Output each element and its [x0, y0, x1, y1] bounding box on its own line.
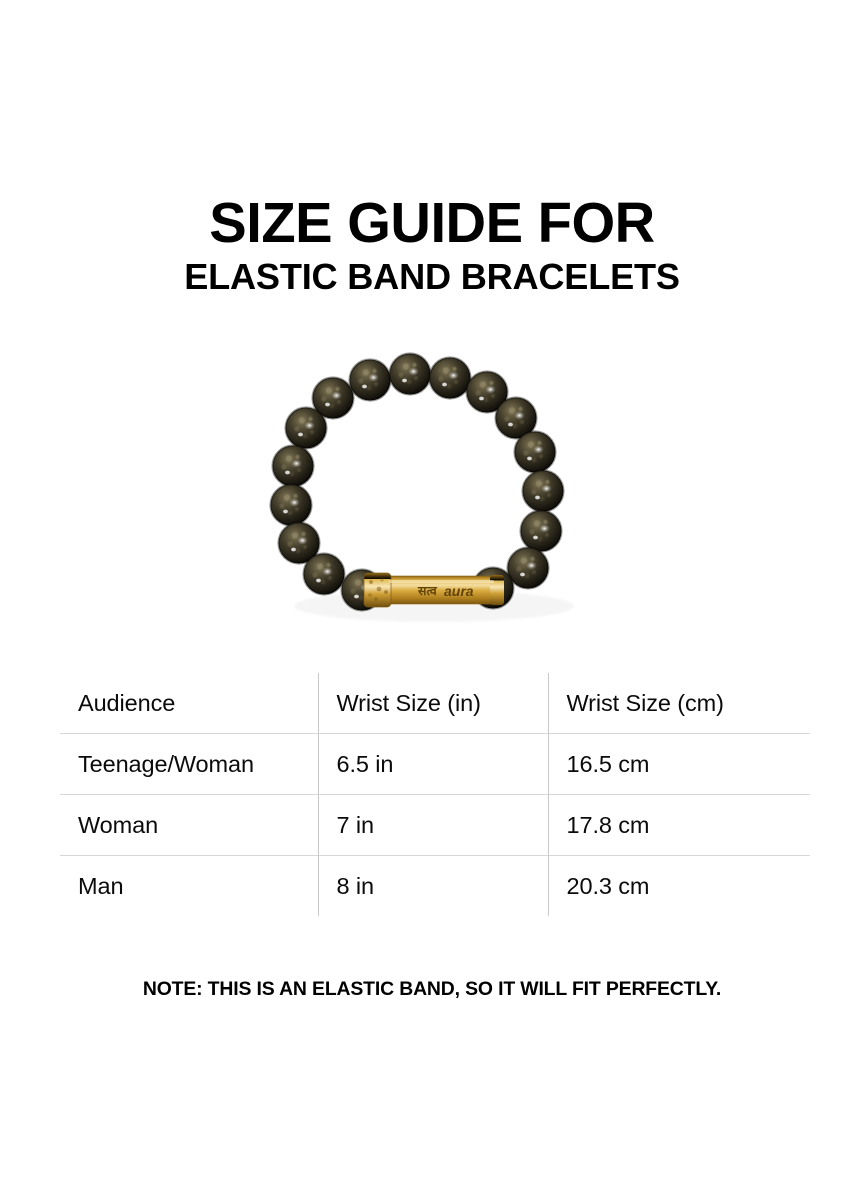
table-row: Teenage/Woman 6.5 in 16.5 cm: [60, 734, 810, 795]
page-title: SIZE GUIDE FOR: [6, 196, 857, 252]
size-table: Audience Wrist Size (in) Wrist Size (cm)…: [60, 673, 810, 916]
bracelet-illustration: सत्व aura: [258, 352, 606, 640]
cell-wrist-cm: 17.8 cm: [548, 795, 810, 856]
page-heading: SIZE GUIDE FOR ELASTIC BAND BRACELETS: [0, 196, 864, 296]
cell-wrist-cm: 16.5 cm: [548, 734, 810, 795]
cell-wrist-in: 7 in: [318, 795, 548, 856]
size-table-container: Audience Wrist Size (in) Wrist Size (cm)…: [60, 673, 810, 924]
bracelet-clasp: सत्व aura: [364, 573, 504, 607]
cell-wrist-in: 6.5 in: [318, 734, 548, 795]
column-header-audience: Audience: [60, 673, 318, 734]
clasp-brand-devanagari: सत्व: [417, 584, 438, 598]
table-row: Woman 7 in 17.8 cm: [60, 795, 810, 856]
bracelet-product-image: सत्व aura: [258, 352, 606, 640]
size-table-head: Audience Wrist Size (in) Wrist Size (cm): [60, 673, 810, 734]
column-header-wrist-size-cm: Wrist Size (cm): [548, 673, 810, 734]
column-header-wrist-size-in: Wrist Size (in): [318, 673, 548, 734]
size-table-body: Teenage/Woman 6.5 in 16.5 cm Woman 7 in …: [60, 734, 810, 917]
cell-audience: Teenage/Woman: [60, 734, 318, 795]
table-header-row: Audience Wrist Size (in) Wrist Size (cm): [60, 673, 810, 734]
cell-audience: Man: [60, 856, 318, 917]
cell-wrist-in: 8 in: [318, 856, 548, 917]
page-subtitle: ELASTIC BAND BRACELETS: [4, 258, 859, 296]
clasp-brand-latin: aura: [444, 583, 474, 599]
cell-audience: Woman: [60, 795, 318, 856]
table-row: Man 8 in 20.3 cm: [60, 856, 810, 917]
note-text: NOTE: THIS IS AN ELASTIC BAND, SO IT WIL…: [4, 978, 859, 1001]
bracelet-beads: [271, 354, 564, 611]
cell-wrist-cm: 20.3 cm: [548, 856, 810, 917]
